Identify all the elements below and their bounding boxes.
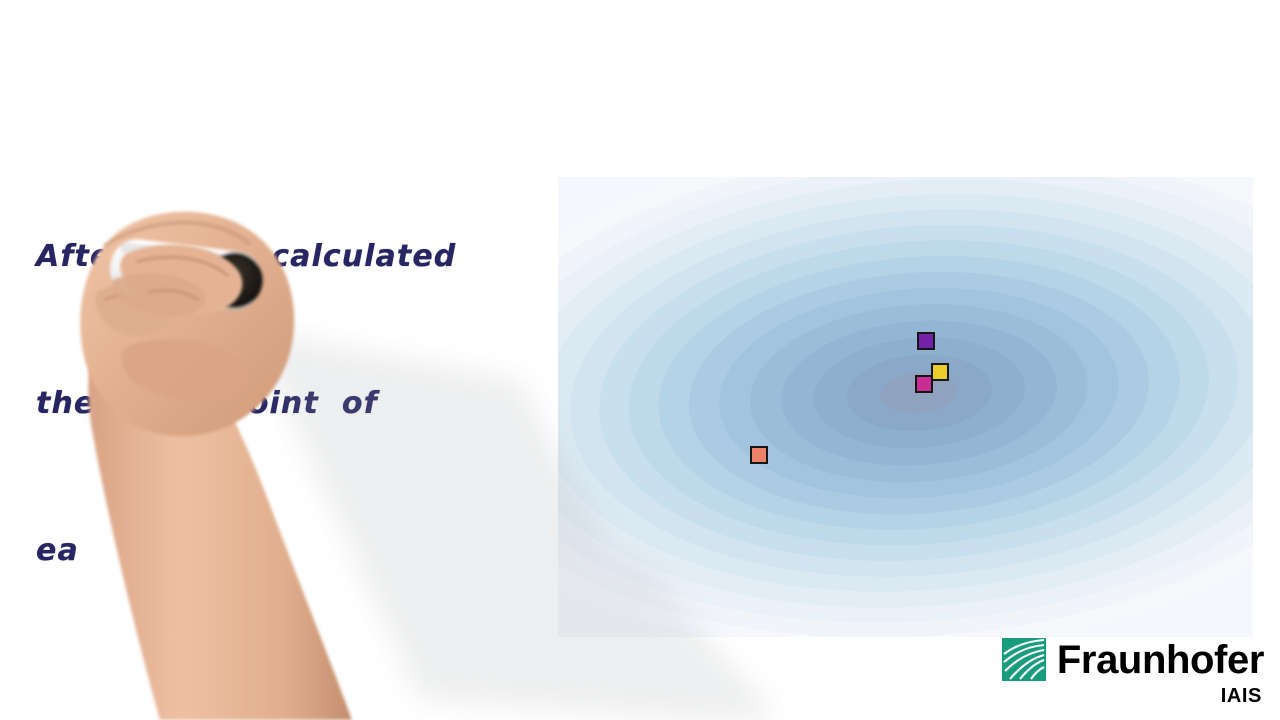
handwriting-line-2: the D point of [36, 379, 506, 428]
scatter-point-4 [750, 446, 768, 464]
fraunhofer-institute-label: IAIS [1221, 685, 1262, 708]
scatter-point-2 [931, 363, 949, 381]
handwriting-line-1: After having calculated [36, 232, 506, 281]
whiteboard-canvas: After having calculated the D point of e… [0, 0, 1280, 720]
fraunhofer-wordmark: Fraunhofer [1057, 640, 1264, 680]
handwriting-line-3: ea [36, 526, 506, 575]
contour-plot-panel [558, 177, 1253, 637]
scatter-point-3 [915, 375, 933, 393]
fraunhofer-mark-icon [1002, 638, 1046, 681]
fraunhofer-logo: Fraunhofer IAIS [1002, 638, 1264, 708]
fraunhofer-mark-svg [1002, 638, 1046, 681]
scatter-point-1 [917, 332, 935, 350]
handwritten-caption: After having calculated the D point of e… [36, 134, 506, 673]
